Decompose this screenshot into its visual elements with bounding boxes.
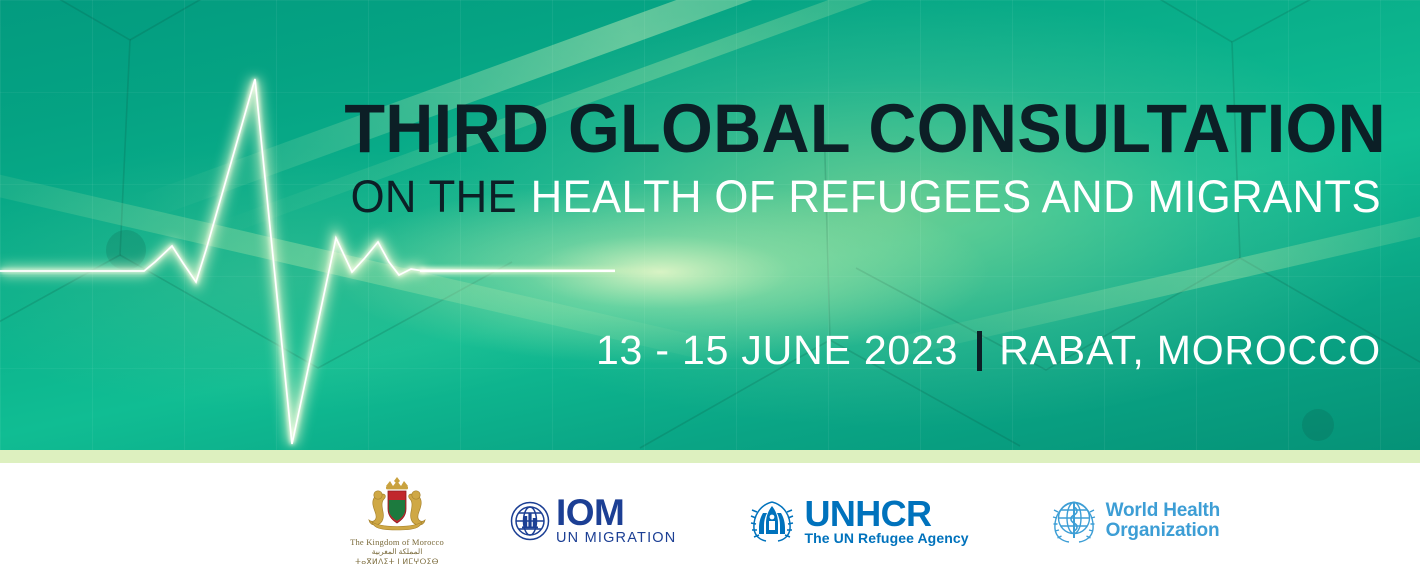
logo-iom: IOM UN MIGRATION xyxy=(509,496,676,546)
subtitle-prefix: ON THE xyxy=(351,171,517,222)
subtitle-highlight: HEALTH OF REFUGEES AND MIGRANTS xyxy=(531,171,1381,222)
who-name-line2: Organization xyxy=(1106,521,1220,541)
hero-background: THIRD GLOBAL CONSULTATION ON THEHEALTH O… xyxy=(0,0,1420,450)
partner-logo-bar: The Kingdom of Morocco المملكة المغربية … xyxy=(0,463,1420,579)
event-location: RABAT, MOROCCO xyxy=(999,330,1381,371)
accent-strip xyxy=(0,450,1420,463)
unhcr-wordmark: UNHCR The UN Refugee Agency xyxy=(804,497,968,546)
logo-morocco: The Kingdom of Morocco المملكة المغربية … xyxy=(317,475,477,567)
morocco-coat-of-arms-icon xyxy=(360,475,434,535)
who-wordmark: World Health Organization xyxy=(1106,501,1220,541)
event-dates: 13 - 15 JUNE 2023 xyxy=(596,330,958,371)
logo-who: World Health Organization xyxy=(1047,496,1220,546)
unhcr-name: UNHCR xyxy=(804,497,968,530)
unhcr-figures-laurel-icon xyxy=(746,498,798,544)
date-location-line: 13 - 15 JUNE 2023 RABAT, MOROCCO xyxy=(0,330,1381,371)
conference-banner: THIRD GLOBAL CONSULTATION ON THEHEALTH O… xyxy=(0,0,1420,579)
dateline-divider xyxy=(977,331,982,371)
logo-row: The Kingdom of Morocco المملكة المغربية … xyxy=(317,475,1220,567)
logo-unhcr: UNHCR The UN Refugee Agency xyxy=(746,497,968,546)
iom-name: IOM xyxy=(556,496,676,530)
morocco-caption-ar: المملكة المغربية xyxy=(350,547,444,557)
heartbeat-ecg-line xyxy=(0,0,1420,450)
morocco-caption-tfng: ⵜⴰⴳⵍⴷⵉⵜ ⵏ ⵍⵎⵖⵔⵉⴱ xyxy=(350,557,444,567)
iom-globe-icon xyxy=(509,500,551,542)
page-title: THIRD GLOBAL CONSULTATION xyxy=(49,94,1386,163)
morocco-caption-en: The Kingdom of Morocco xyxy=(350,537,444,547)
iom-wordmark: IOM UN MIGRATION xyxy=(556,496,676,546)
who-name-line1: World Health xyxy=(1106,501,1220,521)
who-globe-asclepius-icon xyxy=(1047,496,1101,546)
morocco-caption: The Kingdom of Morocco المملكة المغربية … xyxy=(350,537,444,567)
unhcr-tagline: The UN Refugee Agency xyxy=(804,530,968,546)
iom-tagline: UN MIGRATION xyxy=(556,530,676,546)
page-subtitle: ON THEHEALTH OF REFUGEES AND MIGRANTS xyxy=(41,174,1381,219)
